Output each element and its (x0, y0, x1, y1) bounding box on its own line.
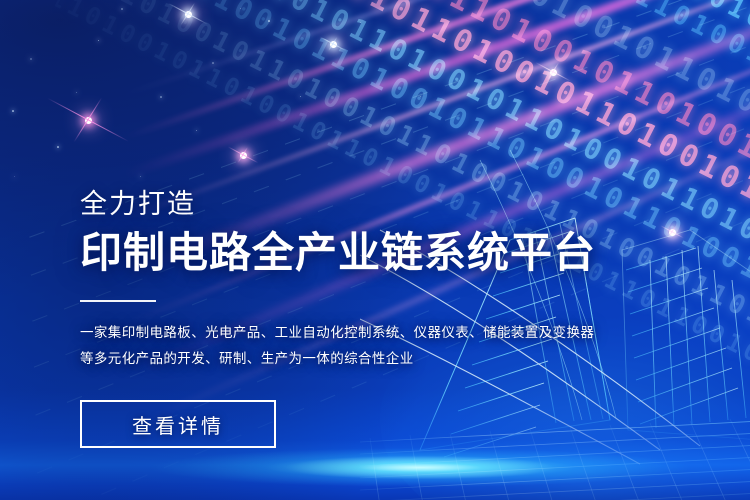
page-title: 印制电路全产业链系统平台 (80, 229, 700, 276)
hero-eyebrow: 全力打造 (80, 190, 700, 220)
view-details-button[interactable]: 查看详情 (80, 400, 276, 448)
hero-description-line-2: 等多元化产品的开发、研制、生产为一体的综合性企业 (80, 346, 580, 372)
hero-description: 一家集印制电路板、光电产品、工业自动化控制系统、仪器仪表、储能装置及变换器 等多… (80, 320, 580, 373)
hero-banner: 1001010110010110100101101001011010010110… (0, 0, 750, 500)
hero-description-line-1: 一家集印制电路板、光电产品、工业自动化控制系统、仪器仪表、储能装置及变换器 (80, 320, 580, 346)
hero-content: 全力打造 印制电路全产业链系统平台 一家集印制电路板、光电产品、工业自动化控制系… (80, 190, 700, 448)
title-divider (80, 300, 156, 302)
